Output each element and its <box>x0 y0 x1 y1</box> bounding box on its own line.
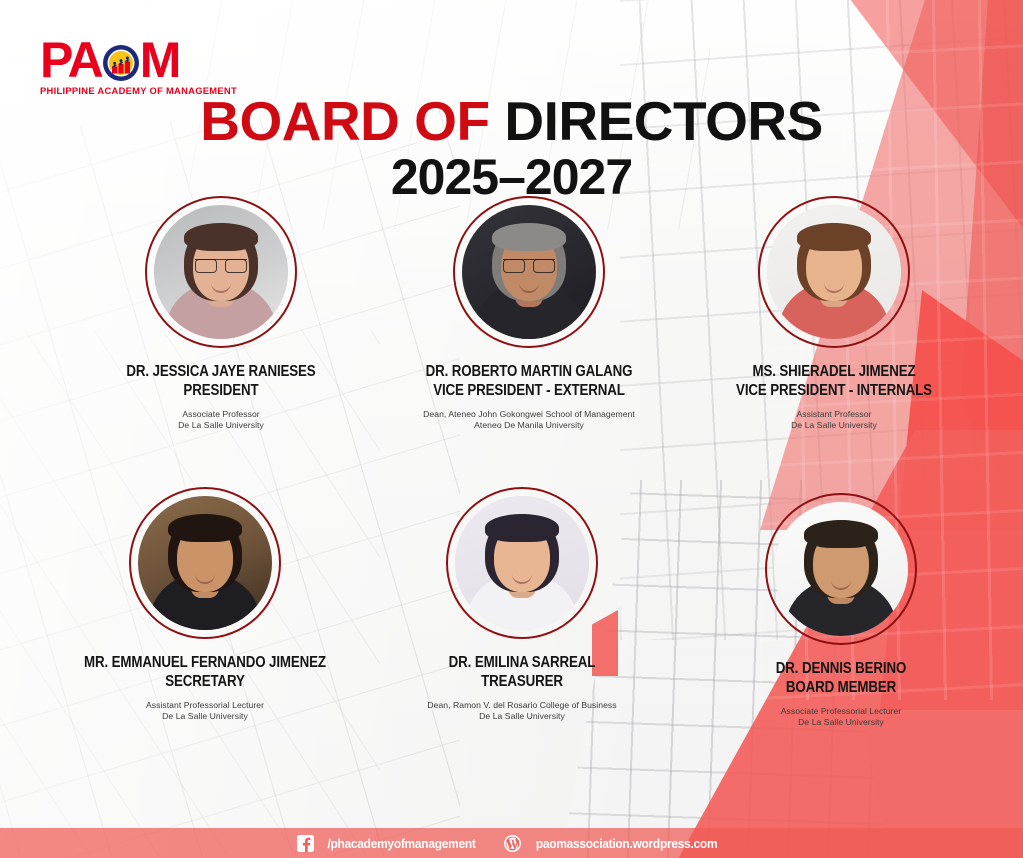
facebook-icon[interactable] <box>297 835 314 852</box>
portrait-shieradel-jimenez <box>758 196 910 348</box>
member-affiliation-line1: Dean, Ramon V. del Rosario College of Bu… <box>357 700 687 711</box>
member-name: DR. ROBERTO MARTIN GALANG <box>387 362 671 381</box>
footer-band: /phacademyofmanagement paomassociation.w… <box>0 828 1023 858</box>
member-name: MR. EMMANUEL FERNANDO JIMENEZ <box>63 653 347 672</box>
paom-emblem-icon <box>101 42 141 82</box>
member-card: DR. JESSICA JAYE RANIESES PRESIDENT Asso… <box>56 196 386 431</box>
portrait-ring <box>446 487 598 639</box>
member-name: MS. SHIERADEL JIMENEZ <box>692 362 976 381</box>
portrait-ring <box>129 487 281 639</box>
facebook-handle[interactable]: /phacademyofmanagement <box>328 836 476 851</box>
member-affiliation-line2: De La Salle University <box>56 420 386 431</box>
title-black-part: DIRECTORS <box>504 90 822 152</box>
member-affiliation-line1: Associate Professor <box>56 409 386 420</box>
website-url[interactable]: paomassociation.wordpress.com <box>536 836 717 851</box>
portrait-dennis-berino <box>765 493 917 645</box>
member-affiliation-line2: De La Salle University <box>357 711 687 722</box>
portrait-jessica-jaye-ranieses <box>145 196 297 348</box>
portrait-ring <box>758 196 910 348</box>
member-role: VICE PRESIDENT - INTERNALS <box>692 381 976 400</box>
wordpress-icon[interactable] <box>504 835 521 852</box>
logo-word-m: M <box>140 32 181 88</box>
member-card: DR. EMILINA SARREAL TREASURER Dean, Ramo… <box>357 487 687 722</box>
member-role: SECRETARY <box>63 672 347 691</box>
logo-wordmark: PAM <box>40 36 255 84</box>
portrait-ring <box>453 196 605 348</box>
logo-word-pa: PA <box>40 32 102 88</box>
member-affiliation-line1: Associate Professorial Lecturer <box>676 706 1006 717</box>
member-affiliation-line2: De La Salle University <box>676 717 1006 728</box>
footer-contacts: /phacademyofmanagement paomassociation.w… <box>297 835 725 852</box>
board-of-directors-poster: PAM PHILIPPINE ACADEMY OF MANAGEMENT BOA… <box>0 0 1023 858</box>
member-name: DR. EMILINA SARREAL <box>380 653 664 672</box>
member-role: BOARD MEMBER <box>699 678 983 697</box>
portrait-ring <box>145 196 297 348</box>
member-affiliation-line2: De La Salle University <box>40 711 370 722</box>
member-affiliation-line2: Ateneo De Manila University <box>364 420 694 431</box>
member-card: MR. EMMANUEL FERNANDO JIMENEZ SECRETARY … <box>40 487 370 722</box>
headline-block: BOARD OF DIRECTORS 2025–2027 <box>0 92 1023 203</box>
member-affiliation-line2: De La Salle University <box>669 420 999 431</box>
member-name: DR. JESSICA JAYE RANIESES <box>79 362 363 381</box>
member-role: VICE PRESIDENT - EXTERNAL <box>387 381 671 400</box>
member-card: DR. ROBERTO MARTIN GALANG VICE PRESIDENT… <box>364 196 694 431</box>
member-affiliation-line1: Assistant Professor <box>669 409 999 420</box>
member-card: DR. DENNIS BERINO BOARD MEMBER Associate… <box>676 493 1006 728</box>
portrait-roberto-martin-galang <box>453 196 605 348</box>
member-affiliation-line1: Assistant Professorial Lecturer <box>40 700 370 711</box>
member-role: PRESIDENT <box>79 381 363 400</box>
member-name: DR. DENNIS BERINO <box>699 659 983 678</box>
title-red-part: BOARD OF <box>200 90 489 152</box>
portrait-emilina-sarreal <box>446 487 598 639</box>
portrait-ring <box>765 493 917 645</box>
member-role: TREASURER <box>380 672 664 691</box>
portrait-emmanuel-fernando-jimenez <box>129 487 281 639</box>
page-title: BOARD OF DIRECTORS <box>0 92 1023 150</box>
member-card: MS. SHIERADEL JIMENEZ VICE PRESIDENT - I… <box>669 196 999 431</box>
member-affiliation-line1: Dean, Ateneo John Gokongwei School of Ma… <box>364 409 694 420</box>
